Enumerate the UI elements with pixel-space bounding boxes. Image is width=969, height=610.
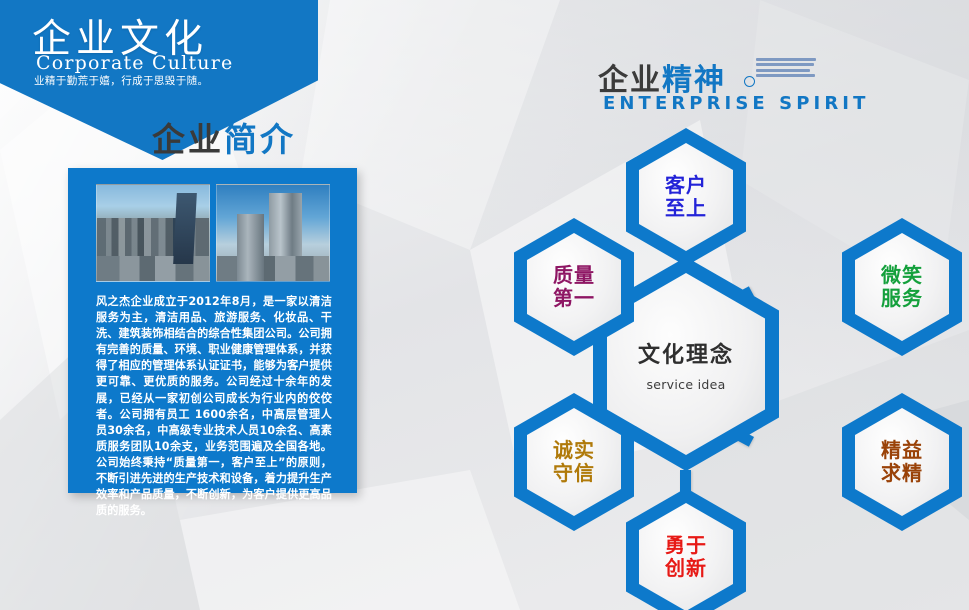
hex-node-bottom[interactable]: 勇于 创新 [626, 488, 746, 610]
hex-node-top[interactable]: 客户 至上 [626, 128, 746, 266]
hex-top-line1: 客户 [665, 174, 707, 197]
hex-node-lower-left[interactable]: 诚实 守信 [514, 393, 634, 531]
company-intro-card: 风之杰企业成立于2012年8月，是一家以清洁服务为主，清洁用品、旅游服务、化妆品… [68, 168, 357, 493]
cityscape-photo-2 [216, 184, 330, 282]
poster-canvas: 企业文化 Corporate Culture 业精于勤荒于嬉，行成于思毁于随。 … [0, 0, 969, 610]
photo-strip [96, 184, 330, 280]
hex-bottom-line1: 勇于 [665, 534, 707, 557]
hex-upper-left-line1: 质量 [553, 264, 595, 287]
hex-upper-right-line1: 微笑 [881, 264, 923, 287]
decorative-microtext [756, 58, 818, 86]
banner-motto: 业精于勤荒于嬉，行成于思毁于随。 [34, 73, 324, 88]
hex-center-subtitle: service idea [646, 377, 725, 392]
registered-mark-icon [744, 76, 755, 87]
cityscape-photo-1 [96, 184, 210, 282]
hex-upper-right-line2: 服务 [881, 287, 923, 310]
hex-lower-left-line1: 诚实 [553, 439, 595, 462]
intro-heading-dark: 企业 [152, 120, 224, 159]
banner-subtitle: Corporate Culture [36, 52, 316, 74]
hex-node-upper-right[interactable]: 微笑 服务 [842, 218, 962, 356]
hex-top-line2: 至上 [665, 197, 707, 220]
hex-bottom-line2: 创新 [665, 557, 707, 580]
hex-lower-right-line1: 精益 [881, 439, 923, 462]
hex-node-lower-right[interactable]: 精益 求精 [842, 393, 962, 531]
hex-center-title: 文化理念 [638, 337, 734, 369]
hex-lower-left-line2: 守信 [553, 462, 595, 485]
hex-lower-right-line2: 求精 [881, 462, 923, 485]
culture-hexagon-diagram: 文化理念 service idea 客户 至上 质量 第一 微笑 [498, 118, 969, 610]
hex-node-upper-left[interactable]: 质量 第一 [514, 218, 634, 356]
company-intro-body: 风之杰企业成立于2012年8月，是一家以清洁服务为主，清洁用品、旅游服务、化妆品… [96, 294, 332, 519]
hex-upper-left-line2: 第一 [553, 287, 595, 310]
intro-heading-blue: 简介 [224, 120, 296, 159]
enterprise-spirit-subtitle: ENTERPRISE SPIRIT [603, 93, 869, 114]
company-intro-heading: 企业简介 [152, 113, 296, 161]
